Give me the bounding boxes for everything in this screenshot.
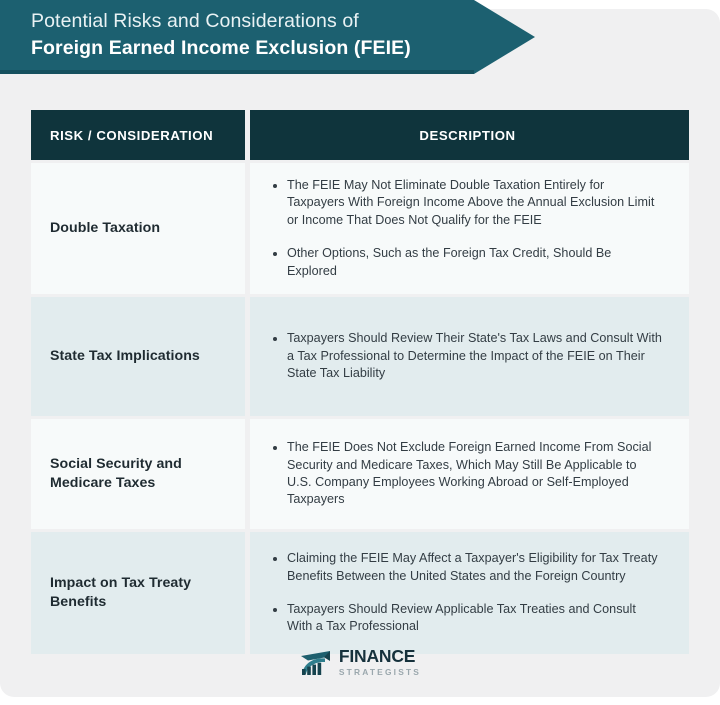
table-header-label-risk: RISK / CONSIDERATION <box>50 128 213 143</box>
title-line-1: Potential Risks and Considerations of <box>31 8 471 35</box>
description-bullet: Taxpayers Should Review Their State's Ta… <box>272 330 663 382</box>
finance-strategists-logo: FINANCE STRATEGISTS <box>299 648 421 678</box>
table-cell-description: Claiming the FEIE May Affect a Taxpayer'… <box>250 532 689 654</box>
table-cell-description: The FEIE May Not Eliminate Double Taxati… <box>250 163 689 294</box>
table-header-row: RISK / CONSIDERATION DESCRIPTION <box>31 110 689 160</box>
title-banner: Potential Risks and Considerations of Fo… <box>0 0 535 74</box>
logo-name: FINANCE <box>339 648 421 665</box>
risks-table: RISK / CONSIDERATION DESCRIPTION Double … <box>31 110 689 654</box>
table-row: Impact on Tax Treaty Benefits Claiming t… <box>31 532 689 654</box>
table-cell-description: Taxpayers Should Review Their State's Ta… <box>250 297 689 416</box>
description-bullet-list: Claiming the FEIE May Affect a Taxpayer'… <box>272 550 663 636</box>
description-bullet-list: Taxpayers Should Review Their State's Ta… <box>272 330 663 382</box>
risk-label: State Tax Implications <box>50 347 231 366</box>
description-bullet-list: The FEIE May Not Eliminate Double Taxati… <box>272 177 663 280</box>
table-cell-risk: Impact on Tax Treaty Benefits <box>31 532 245 654</box>
description-bullet: Other Options, Such as the Foreign Tax C… <box>272 245 663 280</box>
table-cell-risk: State Tax Implications <box>31 297 245 416</box>
description-bullet: The FEIE May Not Eliminate Double Taxati… <box>272 177 663 229</box>
description-bullet-list: The FEIE Does Not Exclude Foreign Earned… <box>272 439 663 509</box>
footer: FINANCE STRATEGISTS <box>0 648 720 678</box>
risk-label: Double Taxation <box>50 219 231 238</box>
table-row: Social Security and Medicare Taxes The F… <box>31 419 689 529</box>
table-header-cell-risk: RISK / CONSIDERATION <box>31 110 245 160</box>
title-banner-bottom-edge <box>0 70 474 74</box>
table-cell-risk: Social Security and Medicare Taxes <box>31 419 245 529</box>
table-header-cell-description: DESCRIPTION <box>250 110 689 160</box>
risk-label: Social Security and Medicare Taxes <box>50 455 231 493</box>
infographic-page: Potential Risks and Considerations of Fo… <box>0 0 720 705</box>
description-bullet: The FEIE Does Not Exclude Foreign Earned… <box>272 439 663 509</box>
table-cell-risk: Double Taxation <box>31 163 245 294</box>
title-banner-text: Potential Risks and Considerations of Fo… <box>31 8 471 62</box>
table-cell-description: The FEIE Does Not Exclude Foreign Earned… <box>250 419 689 529</box>
description-bullet: Claiming the FEIE May Affect a Taxpayer'… <box>272 550 663 585</box>
risk-label: Impact on Tax Treaty Benefits <box>50 574 231 612</box>
finance-strategists-logo-icon <box>299 649 333 677</box>
logo-wordmark: FINANCE STRATEGISTS <box>339 648 421 678</box>
table-row: Double Taxation The FEIE May Not Elimina… <box>31 163 689 294</box>
logo-subtitle: STRATEGISTS <box>339 666 421 678</box>
description-bullet: Taxpayers Should Review Applicable Tax T… <box>272 601 663 636</box>
table-row: State Tax Implications Taxpayers Should … <box>31 297 689 416</box>
table-header-label-description: DESCRIPTION <box>419 128 515 143</box>
title-line-2: Foreign Earned Income Exclusion (FEIE) <box>31 35 471 62</box>
